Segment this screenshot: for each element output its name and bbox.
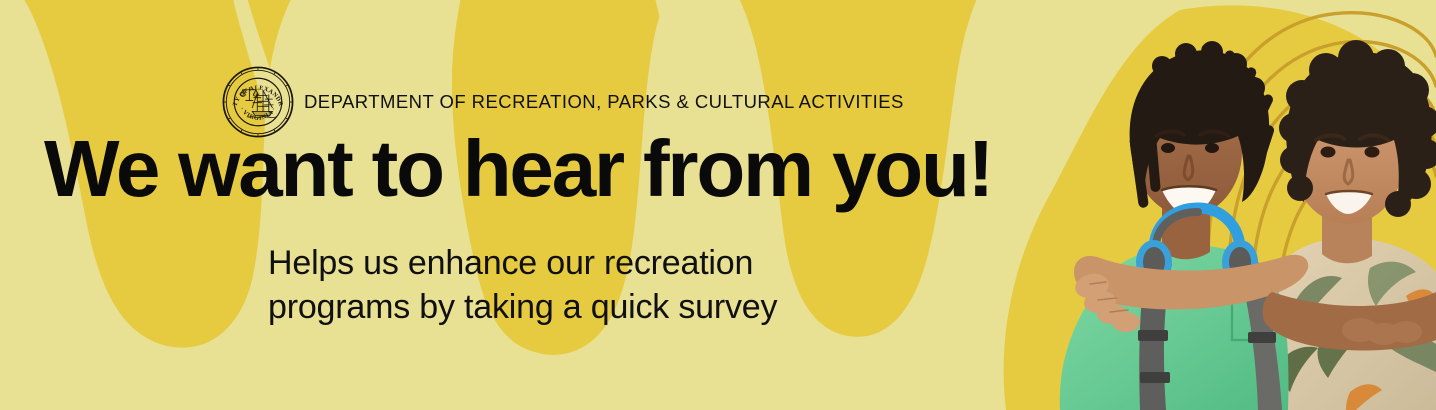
subheadline-line-2: programs by taking a quick survey (268, 286, 777, 330)
child-left-eye-right (1205, 143, 1219, 153)
page-headline: We want to hear from you! (44, 129, 992, 209)
survey-promo-banner: CITY OF ALEXANDRIA · VIRGINIA · (0, 0, 1436, 410)
banner-content: CITY OF ALEXANDRIA · VIRGINIA · (0, 0, 1060, 410)
child-left-eye-left (1161, 143, 1175, 153)
page-subheadline: Helps us enhance our recreation programs… (268, 242, 777, 330)
child-left (1060, 41, 1289, 410)
child-right-eye-left (1321, 147, 1336, 158)
subheadline-line-1: Helps us enhance our recreation (268, 242, 777, 286)
department-name-label: DEPARTMENT OF RECREATION, PARKS & CULTUR… (304, 91, 904, 113)
children-photo (1050, 0, 1436, 410)
child-right-eye-right (1365, 147, 1380, 158)
child-right (1263, 40, 1436, 410)
